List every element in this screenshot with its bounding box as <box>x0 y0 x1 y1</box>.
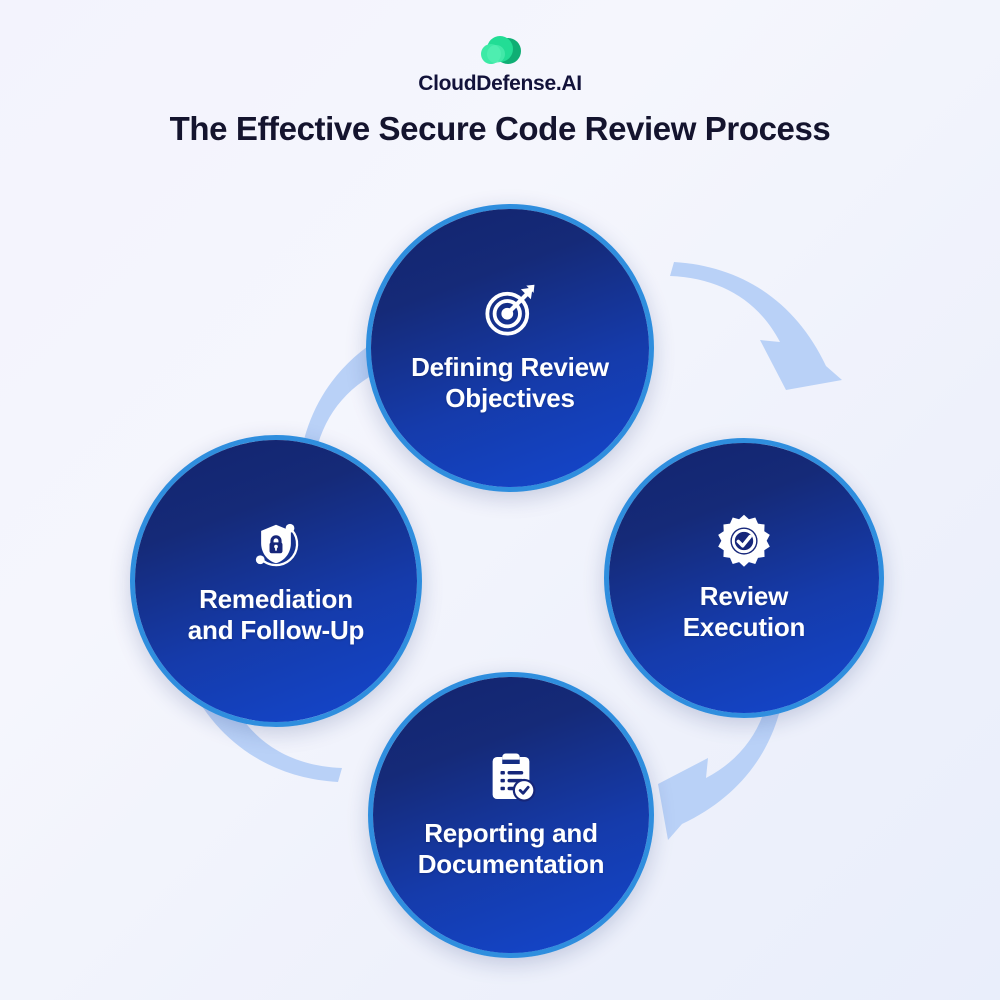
cycle-node-remediation-and-follow-up[interactable]: Remediation and Follow-Up <box>130 435 422 727</box>
cycle-node-label: Review Execution <box>667 581 821 643</box>
target-arrow-icon <box>481 282 539 340</box>
shield-lock-icon <box>248 516 304 572</box>
cycle-diagram: Defining Review Objectives Review Execut… <box>0 0 1000 1000</box>
cycle-node-label: Defining Review Objectives <box>395 352 625 414</box>
cycle-node-review-execution[interactable]: Review Execution <box>604 438 884 718</box>
cycle-node-reporting-and-documentation[interactable]: Reporting and Documentation <box>368 672 654 958</box>
arrow-top-to-right <box>670 262 842 390</box>
cycle-node-label: Remediation and Follow-Up <box>172 584 380 646</box>
gear-check-icon <box>716 513 772 569</box>
clipboard-check-icon <box>483 750 539 806</box>
cycle-node-defining-review-objectives[interactable]: Defining Review Objectives <box>366 204 654 492</box>
cycle-node-label: Reporting and Documentation <box>402 818 621 880</box>
